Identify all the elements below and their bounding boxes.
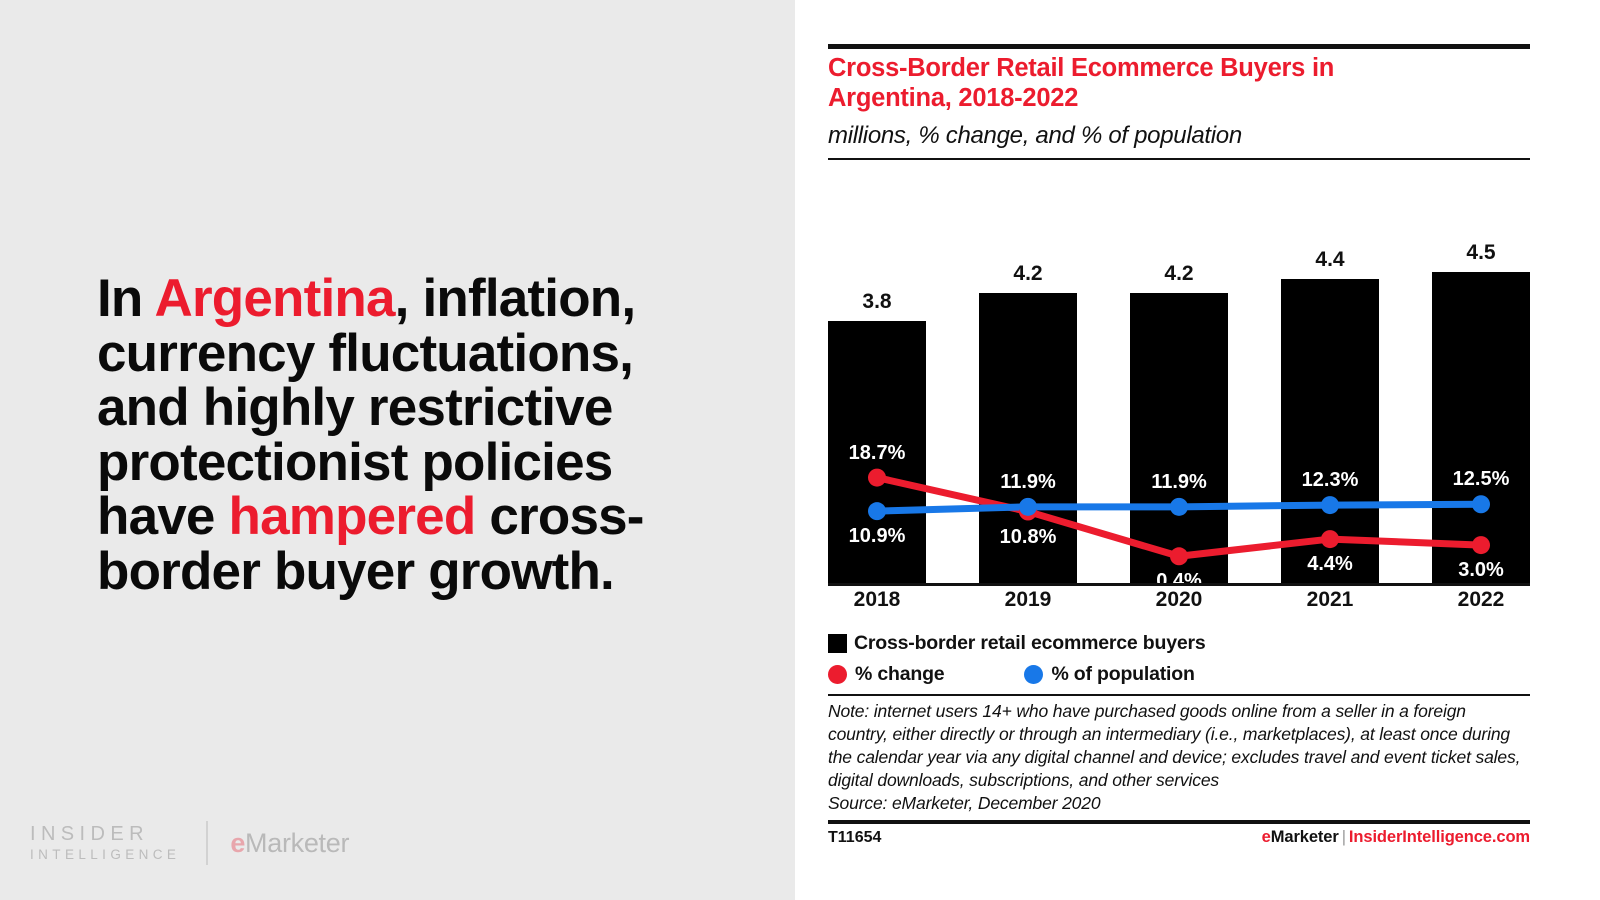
point-value-label: 11.9%: [968, 471, 1088, 494]
emarketer-logo-text: Marketer: [245, 828, 349, 858]
x-axis-tick-labels: 20182019202020212022: [828, 588, 1530, 622]
insight-headline: In Argentina, inflation, currency fluctu…: [97, 272, 657, 599]
x-tick-label: 2020: [1130, 588, 1228, 612]
x-axis-line: [828, 583, 1530, 586]
x-tick-label: 2018: [828, 588, 926, 612]
chart-panel: Cross-Border Retail Ecommerce Buyers in …: [795, 0, 1600, 900]
insider-logo-line1: INSIDER: [30, 822, 180, 847]
point-value-label: 10.8%: [968, 526, 1088, 549]
line-marker: [1321, 496, 1339, 514]
headline-highlight: hampered: [229, 487, 476, 546]
x-tick-label: 2022: [1432, 588, 1530, 612]
legend-square-icon: [828, 634, 847, 653]
brand-lockup: INSIDER INTELLIGENCE eMarketer: [30, 820, 349, 866]
x-tick-label: 2021: [1281, 588, 1379, 612]
line-series-group: [828, 180, 1530, 583]
point-value-label: 4.4%: [1270, 553, 1390, 576]
footer-emarketer-e: e: [1262, 828, 1271, 846]
line-marker: [1321, 530, 1339, 548]
point-value-label: 12.3%: [1270, 469, 1390, 492]
insider-intelligence-logo: INSIDER INTELLIGENCE: [30, 822, 180, 864]
chart-subtitle: millions, % change, and % of population: [828, 122, 1242, 150]
legend-circle-blue-icon: [1024, 665, 1043, 684]
chart-legend: Cross-border retail ecommerce buyers % c…: [828, 628, 1530, 690]
line-marker: [1472, 495, 1490, 513]
point-value-label: 18.7%: [817, 442, 937, 465]
emarketer-logo: eMarketer: [230, 828, 349, 859]
note-text: Note: internet users 14+ who have purcha…: [828, 701, 1520, 790]
legend-label-pct-change: % change: [855, 663, 944, 686]
line-marker: [868, 469, 886, 487]
headline-highlight: Argentina: [154, 269, 394, 328]
point-value-label: 10.9%: [817, 525, 937, 548]
line-marker: [1170, 498, 1188, 516]
chart-id-number: T11654: [828, 829, 881, 847]
headline-text: In: [97, 269, 154, 328]
brand-divider: [206, 821, 208, 865]
legend-label-buyers: Cross-border retail ecommerce buyers: [854, 632, 1206, 655]
point-value-label: 12.5%: [1421, 468, 1541, 491]
footer-emarketer-text: Marketer: [1271, 828, 1339, 846]
footer-website-link[interactable]: InsiderIntelligence.com: [1349, 828, 1530, 846]
footer-brand: eMarketer|InsiderIntelligence.com: [1262, 828, 1530, 847]
legend-circle-red-icon: [828, 665, 847, 684]
left-insight-panel: In Argentina, inflation, currency fluctu…: [0, 0, 795, 900]
point-value-label: 3.0%: [1421, 559, 1541, 582]
legend-row-1: Cross-border retail ecommerce buyers: [828, 628, 1530, 659]
chart-footer: T11654 eMarketer|InsiderIntelligence.com: [828, 828, 1530, 847]
plot-area: 3.84.24.24.44.5 18.7%10.8%0.4%4.4%3.0%10…: [828, 180, 1530, 585]
emarketer-logo-e: e: [230, 828, 245, 858]
line-marker: [1170, 547, 1188, 565]
footer-separator: |: [1339, 828, 1349, 846]
point-value-label: 11.9%: [1119, 471, 1239, 494]
legend-row-2: % change % of population: [828, 659, 1530, 690]
line-marker: [1472, 536, 1490, 554]
source-text: Source: eMarketer, December 2020: [828, 793, 1100, 813]
insider-logo-line2: INTELLIGENCE: [30, 847, 180, 864]
note-rule: [828, 694, 1530, 696]
x-tick-label: 2019: [979, 588, 1077, 612]
legend-item-pct-population: % of population: [1024, 663, 1194, 686]
top-rule: [828, 44, 1530, 49]
subtitle-rule: [828, 158, 1530, 160]
footer-rule: [828, 820, 1530, 824]
line-marker: [1019, 498, 1037, 516]
slide-root: In Argentina, inflation, currency fluctu…: [0, 0, 1600, 900]
legend-item-pct-change: % change: [828, 663, 944, 686]
legend-item-buyers: Cross-border retail ecommerce buyers: [828, 632, 1206, 655]
legend-label-pct-population: % of population: [1051, 663, 1194, 686]
chart-note: Note: internet users 14+ who have purcha…: [828, 700, 1528, 815]
footer-emarketer: eMarketer: [1262, 828, 1339, 846]
chart-title: Cross-Border Retail Ecommerce Buyers in …: [828, 54, 1448, 114]
line-marker: [868, 502, 886, 520]
